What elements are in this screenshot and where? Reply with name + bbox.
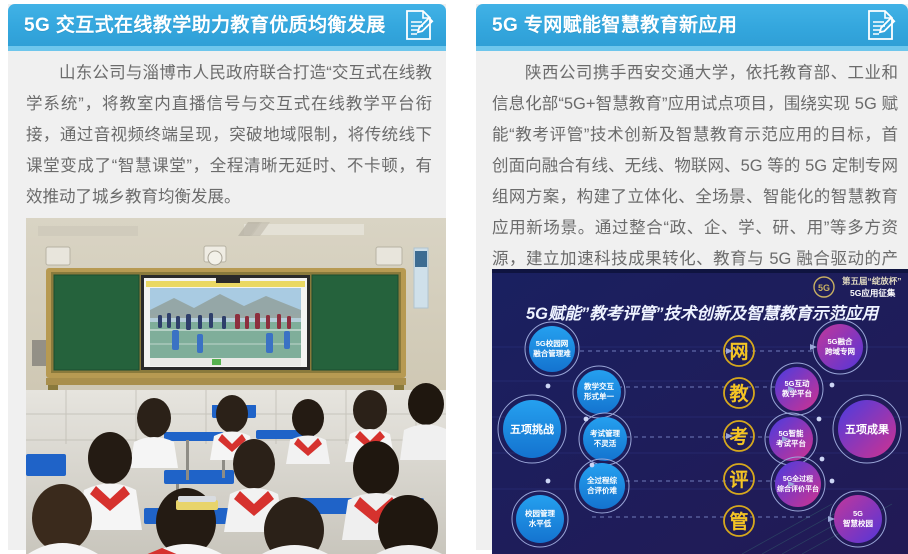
- left-panel-header: 5G 交互式在线教学助力教育优质均衡发展: [8, 4, 446, 46]
- svg-text:教学平台: 教学平台: [781, 388, 812, 398]
- right-panel-surface: 5G 专网赋能智慧教育新应用 陕西公司携手西安交通大学，依托教育部、工业和信息化…: [476, 4, 908, 550]
- infographic-5g-education: 5G 第五届“绽放杯” 5G应用征集 5G赋能”教考评管”技术创新及智慧教育示范…: [492, 269, 908, 554]
- left-panel: 5G 交互式在线教学助力教育优质均衡发展 山东公司与淄博市人民政府联合打造“交互…: [0, 0, 454, 550]
- svg-text:网: 网: [729, 342, 748, 363]
- document-pen-icon: [404, 9, 434, 41]
- left-panel-surface: 5G 交互式在线教学助力教育优质均衡发展 山东公司与淄博市人民政府联合打造“交互…: [8, 4, 446, 550]
- svg-text:教: 教: [729, 382, 749, 405]
- right-panel-header: 5G 专网赋能智慧教育新应用: [476, 4, 908, 46]
- svg-text:考: 考: [729, 426, 748, 448]
- svg-text:合评价难: 合评价难: [587, 485, 617, 495]
- left-panel-title: 5G 交互式在线教学助力教育优质均衡发展: [24, 16, 386, 35]
- svg-text:考试管理: 考试管理: [590, 428, 620, 438]
- svg-text:5G应用征集: 5G应用征集: [850, 288, 896, 298]
- page-root: 5G 交互式在线教学助力教育优质均衡发展 山东公司与淄博市人民政府联合打造“交互…: [0, 0, 908, 550]
- svg-text:融合管理难: 融合管理难: [533, 348, 571, 358]
- right-group-label: 五项成果: [845, 422, 889, 436]
- svg-text:管: 管: [729, 510, 748, 533]
- svg-text:5G: 5G: [853, 509, 863, 518]
- svg-text:校园管理: 校园管理: [525, 508, 555, 518]
- left-group-label: 五项挑战: [510, 422, 554, 436]
- svg-text:跨域专网: 跨域专网: [825, 346, 855, 356]
- svg-text:综合评价平台: 综合评价平台: [777, 484, 819, 493]
- classroom-photo: [26, 218, 446, 554]
- svg-text:全过程综: 全过程综: [586, 475, 617, 485]
- svg-text:5G融合: 5G融合: [827, 336, 853, 346]
- right-header-underline: [476, 46, 908, 51]
- svg-text:教学交互: 教学交互: [583, 381, 614, 391]
- svg-text:5G校园网: 5G校园网: [536, 338, 569, 348]
- svg-text:评: 评: [729, 469, 748, 491]
- svg-text:考试平台: 考试平台: [776, 438, 806, 448]
- svg-text:不灵活: 不灵活: [594, 438, 617, 448]
- left-body-paragraph: 山东公司与淄博市人民政府联合打造“交互式在线教学系统”，将教室内直播信号与交互式…: [26, 58, 432, 213]
- infographic-title: 5G赋能”教考评管”技术创新及智慧教育示范应用: [526, 304, 881, 323]
- svg-text:智慧校园: 智慧校园: [843, 518, 873, 528]
- svg-text:形式单一: 形式单一: [584, 391, 614, 401]
- document-pen-icon: [866, 9, 896, 41]
- right-panel-title: 5G 专网赋能智慧教育新应用: [492, 16, 737, 35]
- svg-text:第五届“绽放杯”: 第五届“绽放杯”: [842, 276, 902, 286]
- svg-text:5G: 5G: [818, 283, 830, 293]
- left-panel-body: 山东公司与淄博市人民政府联合打造“交互式在线教学系统”，将教室内直播信号与交互式…: [26, 58, 432, 213]
- right-panel: 5G 专网赋能智慧教育新应用 陕西公司携手西安交通大学，依托教育部、工业和信息化…: [454, 0, 908, 550]
- svg-text:5G全过程: 5G全过程: [783, 474, 813, 483]
- svg-text:水平低: 水平低: [529, 518, 552, 528]
- left-header-underline: [8, 46, 446, 51]
